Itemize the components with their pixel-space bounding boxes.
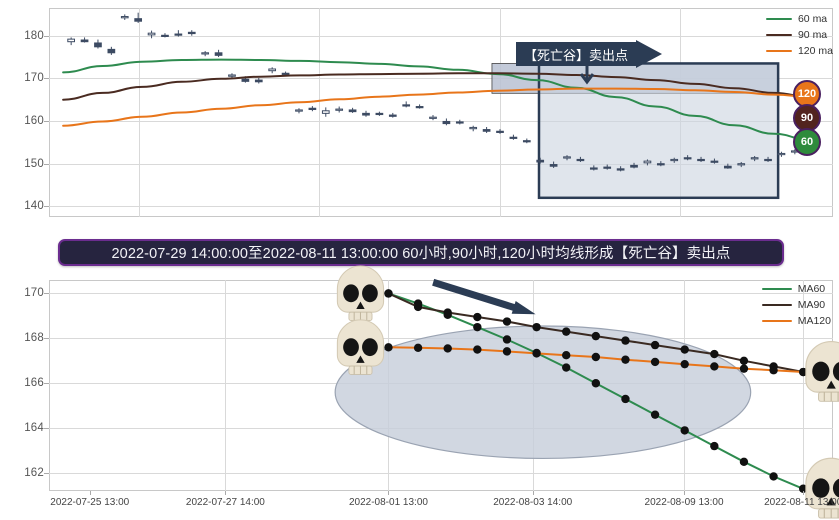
x-axis-tick-label: 2022-07-25 13:00 xyxy=(50,497,129,508)
legend-item-120-ma[interactable]: 120 ma xyxy=(766,44,833,58)
data-point xyxy=(740,364,748,372)
data-point xyxy=(473,313,481,321)
data-point xyxy=(592,353,600,361)
x-axis-tick xyxy=(803,491,804,495)
data-point xyxy=(592,379,600,387)
x-axis-tick xyxy=(533,491,534,495)
death-cross-highlight-box xyxy=(539,63,778,197)
data-point xyxy=(681,360,689,368)
data-point xyxy=(414,303,422,311)
data-point xyxy=(473,323,481,331)
legend-swatch-icon xyxy=(762,304,792,307)
data-point xyxy=(681,345,689,353)
bottom-chart-legend: MA60MA90MA120 xyxy=(762,282,831,330)
data-point xyxy=(503,347,511,355)
legend-swatch-icon xyxy=(762,288,792,291)
data-point xyxy=(414,344,422,352)
death-cross-arrow xyxy=(433,282,519,309)
top-chart-svg xyxy=(0,0,839,232)
bottom-chart-panel: 170168166164162 2022-07-25 13:002022-07-… xyxy=(0,272,839,520)
legend-label: MA120 xyxy=(798,314,831,328)
badge-ma120-label: 120 xyxy=(798,88,816,100)
x-axis-tick-label: 2022-07-27 14:00 xyxy=(186,497,265,508)
legend-label: 60 ma xyxy=(798,12,827,26)
chart-page: 180170160150140 【死亡谷】卖出点 60 ma90 ma120 m… xyxy=(0,0,839,520)
arrow-head-icon xyxy=(512,301,536,314)
legend-label: 90 ma xyxy=(798,28,827,42)
x-axis-tick xyxy=(684,491,685,495)
data-point xyxy=(562,363,570,371)
x-axis-tick-label: 2022-08-01 13:00 xyxy=(349,497,428,508)
x-axis-tick xyxy=(225,491,226,495)
data-point xyxy=(769,366,777,374)
data-point xyxy=(621,336,629,344)
legend-item-90-ma[interactable]: 90 ma xyxy=(766,28,833,42)
top-chart-legend: 60 ma90 ma120 ma xyxy=(766,12,833,60)
legend-item-60-ma[interactable]: 60 ma xyxy=(766,12,833,26)
data-point xyxy=(384,343,392,351)
data-point xyxy=(592,332,600,340)
data-point xyxy=(710,362,718,370)
page-title: 2022-07-29 14:00:00至2022-08-11 13:00:00 … xyxy=(112,242,731,263)
legend-label: 120 ma xyxy=(798,44,833,58)
legend-swatch-icon xyxy=(766,18,792,21)
data-point xyxy=(532,323,540,331)
data-point xyxy=(651,358,659,366)
legend-item-MA90[interactable]: MA90 xyxy=(762,298,831,312)
x-axis-tick xyxy=(388,491,389,495)
badge-ma60[interactable]: 60 xyxy=(793,128,821,156)
data-point xyxy=(473,345,481,353)
legend-swatch-icon xyxy=(762,320,792,323)
data-point xyxy=(710,350,718,358)
skull-icon-ma90-end xyxy=(806,342,839,402)
data-point xyxy=(740,357,748,365)
legend-item-MA60[interactable]: MA60 xyxy=(762,282,831,296)
data-point xyxy=(621,395,629,403)
x-axis-tick-label: 2022-08-11 13:00 xyxy=(764,497,839,508)
data-point xyxy=(384,289,392,297)
skull-icon-ma60-start xyxy=(337,266,383,321)
badge-ma60-label: 60 xyxy=(801,136,813,148)
legend-swatch-icon xyxy=(766,50,792,53)
top-chart-panel: 180170160150140 【死亡谷】卖出点 60 ma90 ma120 m… xyxy=(0,0,839,232)
data-point xyxy=(681,426,689,434)
sell-signal-annotation: 【死亡谷】卖出点 xyxy=(516,40,662,68)
x-axis-tick-label: 2022-08-03 14:00 xyxy=(493,497,572,508)
chart-title-banner: 2022-07-29 14:00:00至2022-08-11 13:00:00 … xyxy=(58,239,784,266)
x-axis-tick-label: 2022-08-09 13:00 xyxy=(645,497,724,508)
legend-label: MA60 xyxy=(798,282,825,296)
data-point xyxy=(710,442,718,450)
data-point xyxy=(532,349,540,357)
data-point xyxy=(740,458,748,466)
data-point xyxy=(651,341,659,349)
annotation-label: 【死亡谷】卖出点 xyxy=(524,45,628,64)
data-point xyxy=(621,355,629,363)
data-point xyxy=(503,335,511,343)
skull-icon-ma60-end xyxy=(806,458,839,518)
data-point xyxy=(444,308,452,316)
legend-label: MA90 xyxy=(798,298,825,312)
data-point xyxy=(562,351,570,359)
data-point xyxy=(503,317,511,325)
legend-item-MA120[interactable]: MA120 xyxy=(762,314,831,328)
data-point xyxy=(651,410,659,418)
badge-ma90-label: 90 xyxy=(801,112,813,124)
data-point xyxy=(562,327,570,335)
data-point xyxy=(444,344,452,352)
data-point xyxy=(769,472,777,480)
x-axis-tick xyxy=(90,491,91,495)
bottom-chart-svg xyxy=(0,272,839,520)
death-cross-ellipse xyxy=(335,326,751,458)
legend-swatch-icon xyxy=(766,34,792,37)
